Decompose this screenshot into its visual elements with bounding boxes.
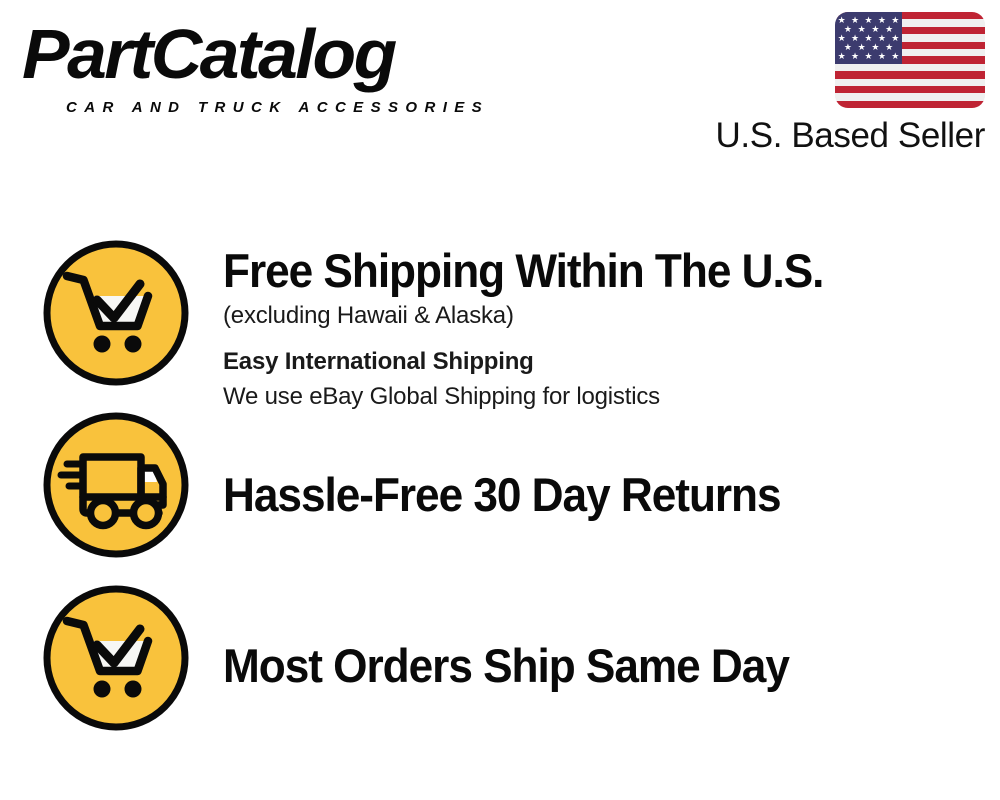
feature-row: Free Shipping Within The U.S. (excluding… [0,240,1000,414]
feature-text-block: Most Orders Ship Same Day [223,585,1000,693]
feature-subheading: Easy International Shipping [223,345,1000,379]
feature-title: Most Orders Ship Same Day [223,639,953,693]
us-based-seller-label: U.S. Based Seller [716,115,985,157]
flag-star-row: ★★★★★ [835,52,902,61]
shopping-cart-check-icon [43,585,189,731]
feature-text-block: Hassle-Free 30 Day Returns [223,412,1000,522]
feature-row: Most Orders Ship Same Day [0,585,1000,731]
feature-title: Hassle-Free 30 Day Returns [223,468,953,522]
feature-row: Hassle-Free 30 Day Returns [0,412,1000,558]
brand-wordmark: PartCatalog [22,16,395,92]
delivery-truck-icon [43,412,189,558]
brand-tagline: CAR AND TRUCK ACCESSORIES [66,100,489,116]
shopping-cart-check-icon [43,240,189,386]
feature-text-block: Free Shipping Within The U.S. (excluding… [223,240,1000,414]
feature-detail: We use eBay Global Shipping for logistic… [223,380,1000,414]
feature-note: (excluding Hawaii & Alaska) [223,299,1000,333]
seller-info-banner: PartCatalog CAR AND TRUCK ACCESSORIES [0,0,1000,800]
brand-logo[interactable]: PartCatalog CAR AND TRUCK ACCESSORIES [22,16,502,116]
us-based-seller-block: ★★★★★ ★★★★ ★★★★★ ★★★★ ★★★★★ U.S. Based S… [715,12,985,162]
us-flag-icon: ★★★★★ ★★★★ ★★★★★ ★★★★ ★★★★★ [835,12,985,108]
feature-title: Free Shipping Within The U.S. [223,244,953,298]
flag-canton: ★★★★★ ★★★★ ★★★★★ ★★★★ ★★★★★ [835,12,902,64]
